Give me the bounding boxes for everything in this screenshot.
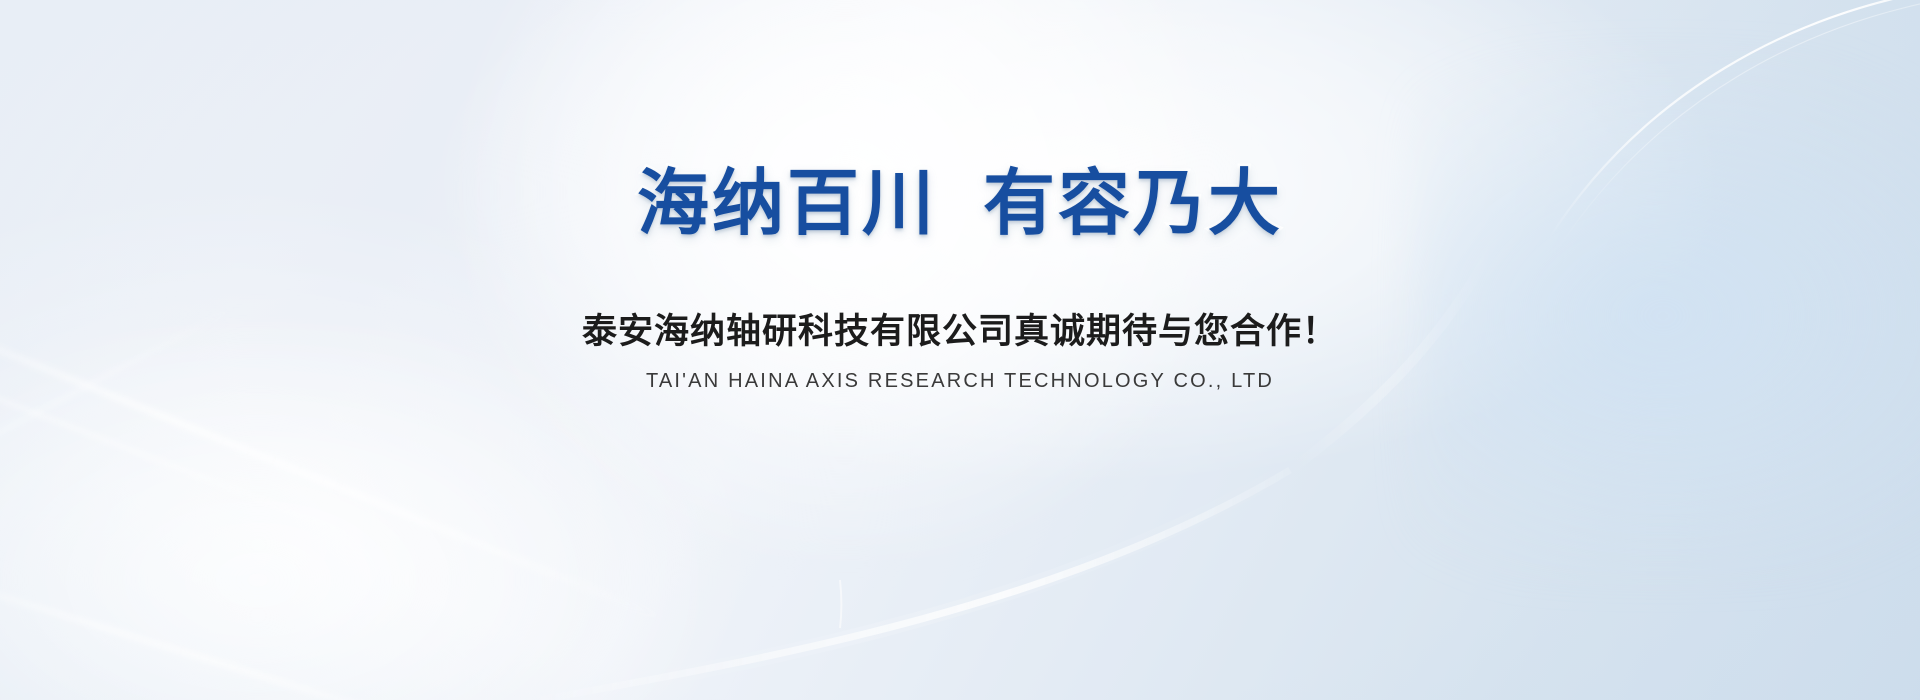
hero-banner: 海纳百川 有容乃大 泰安海纳轴研科技有限公司真诚期待与您合作！ TAI'AN H…: [0, 0, 1920, 700]
banner-headline: 海纳百川 有容乃大: [637, 168, 1283, 240]
banner-content: 海纳百川 有容乃大 泰安海纳轴研科技有限公司真诚期待与您合作！ TAI'AN H…: [0, 0, 1920, 700]
banner-subtitle-chinese: 泰安海纳轴研科技有限公司真诚期待与您合作！: [582, 314, 1338, 349]
banner-subtitle-english: TAI'AN HAINA AXIS RESEARCH TECHNOLOGY CO…: [646, 371, 1274, 391]
